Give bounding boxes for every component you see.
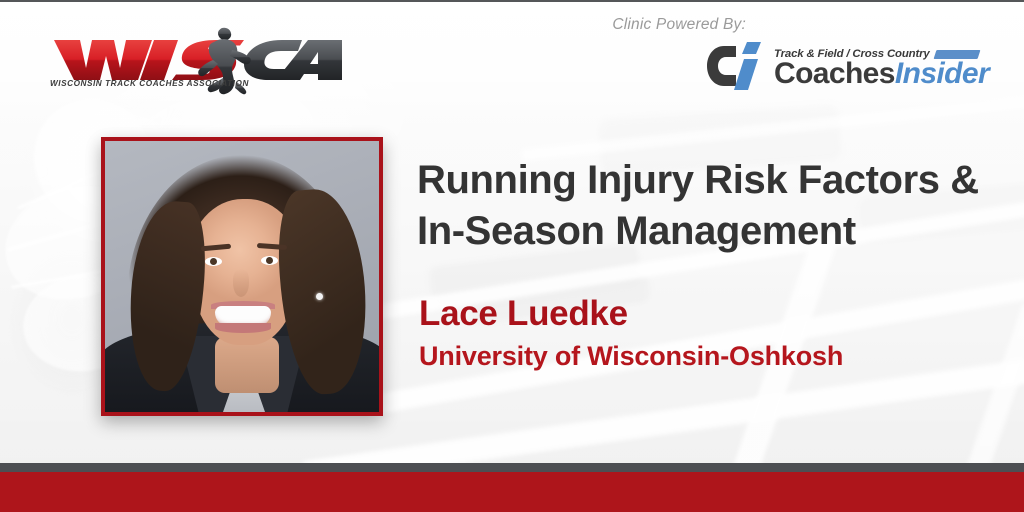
clinic-powered-by-label: Clinic Powered By: (612, 16, 746, 34)
speaker-name: Lace Luedke (419, 296, 628, 331)
ci-name-coaches: Coaches (774, 57, 895, 90)
speaker-portrait (101, 137, 383, 416)
coaches-insider-logo: Clinic Powered By: Track & Field / Cross… (706, 16, 996, 96)
top-border-rule (0, 0, 1024, 2)
wisca-logo: WISCONSIN TRACK COACHES ASSOCIATION (46, 22, 346, 98)
coaches-insider-wordmark: Track & Field / Cross Country CoachesIns… (774, 48, 989, 90)
ci-name: CoachesInsider (774, 59, 989, 89)
presentation-title: Running Injury Risk Factors & In-Season … (417, 155, 1007, 257)
ci-monogram-icon (706, 42, 768, 90)
speaker-affiliation: University of Wisconsin-Oshkosh (419, 343, 843, 370)
title-line-2: In-Season Management (417, 206, 1007, 257)
wisca-tagline: WISCONSIN TRACK COACHES ASSOCIATION (50, 79, 249, 88)
footer-red-bar (0, 472, 1024, 512)
footer-gray-strip (0, 463, 1024, 472)
presentation-title-slide: WISCONSIN TRACK COACHES ASSOCIATION Clin… (0, 0, 1024, 512)
portrait-image (105, 141, 379, 412)
ci-accent-bar-icon (933, 50, 980, 59)
title-line-1: Running Injury Risk Factors & (417, 158, 979, 202)
ci-name-insider: Insider (895, 57, 989, 90)
coaches-insider-lockup: Track & Field / Cross Country CoachesIns… (706, 42, 989, 90)
